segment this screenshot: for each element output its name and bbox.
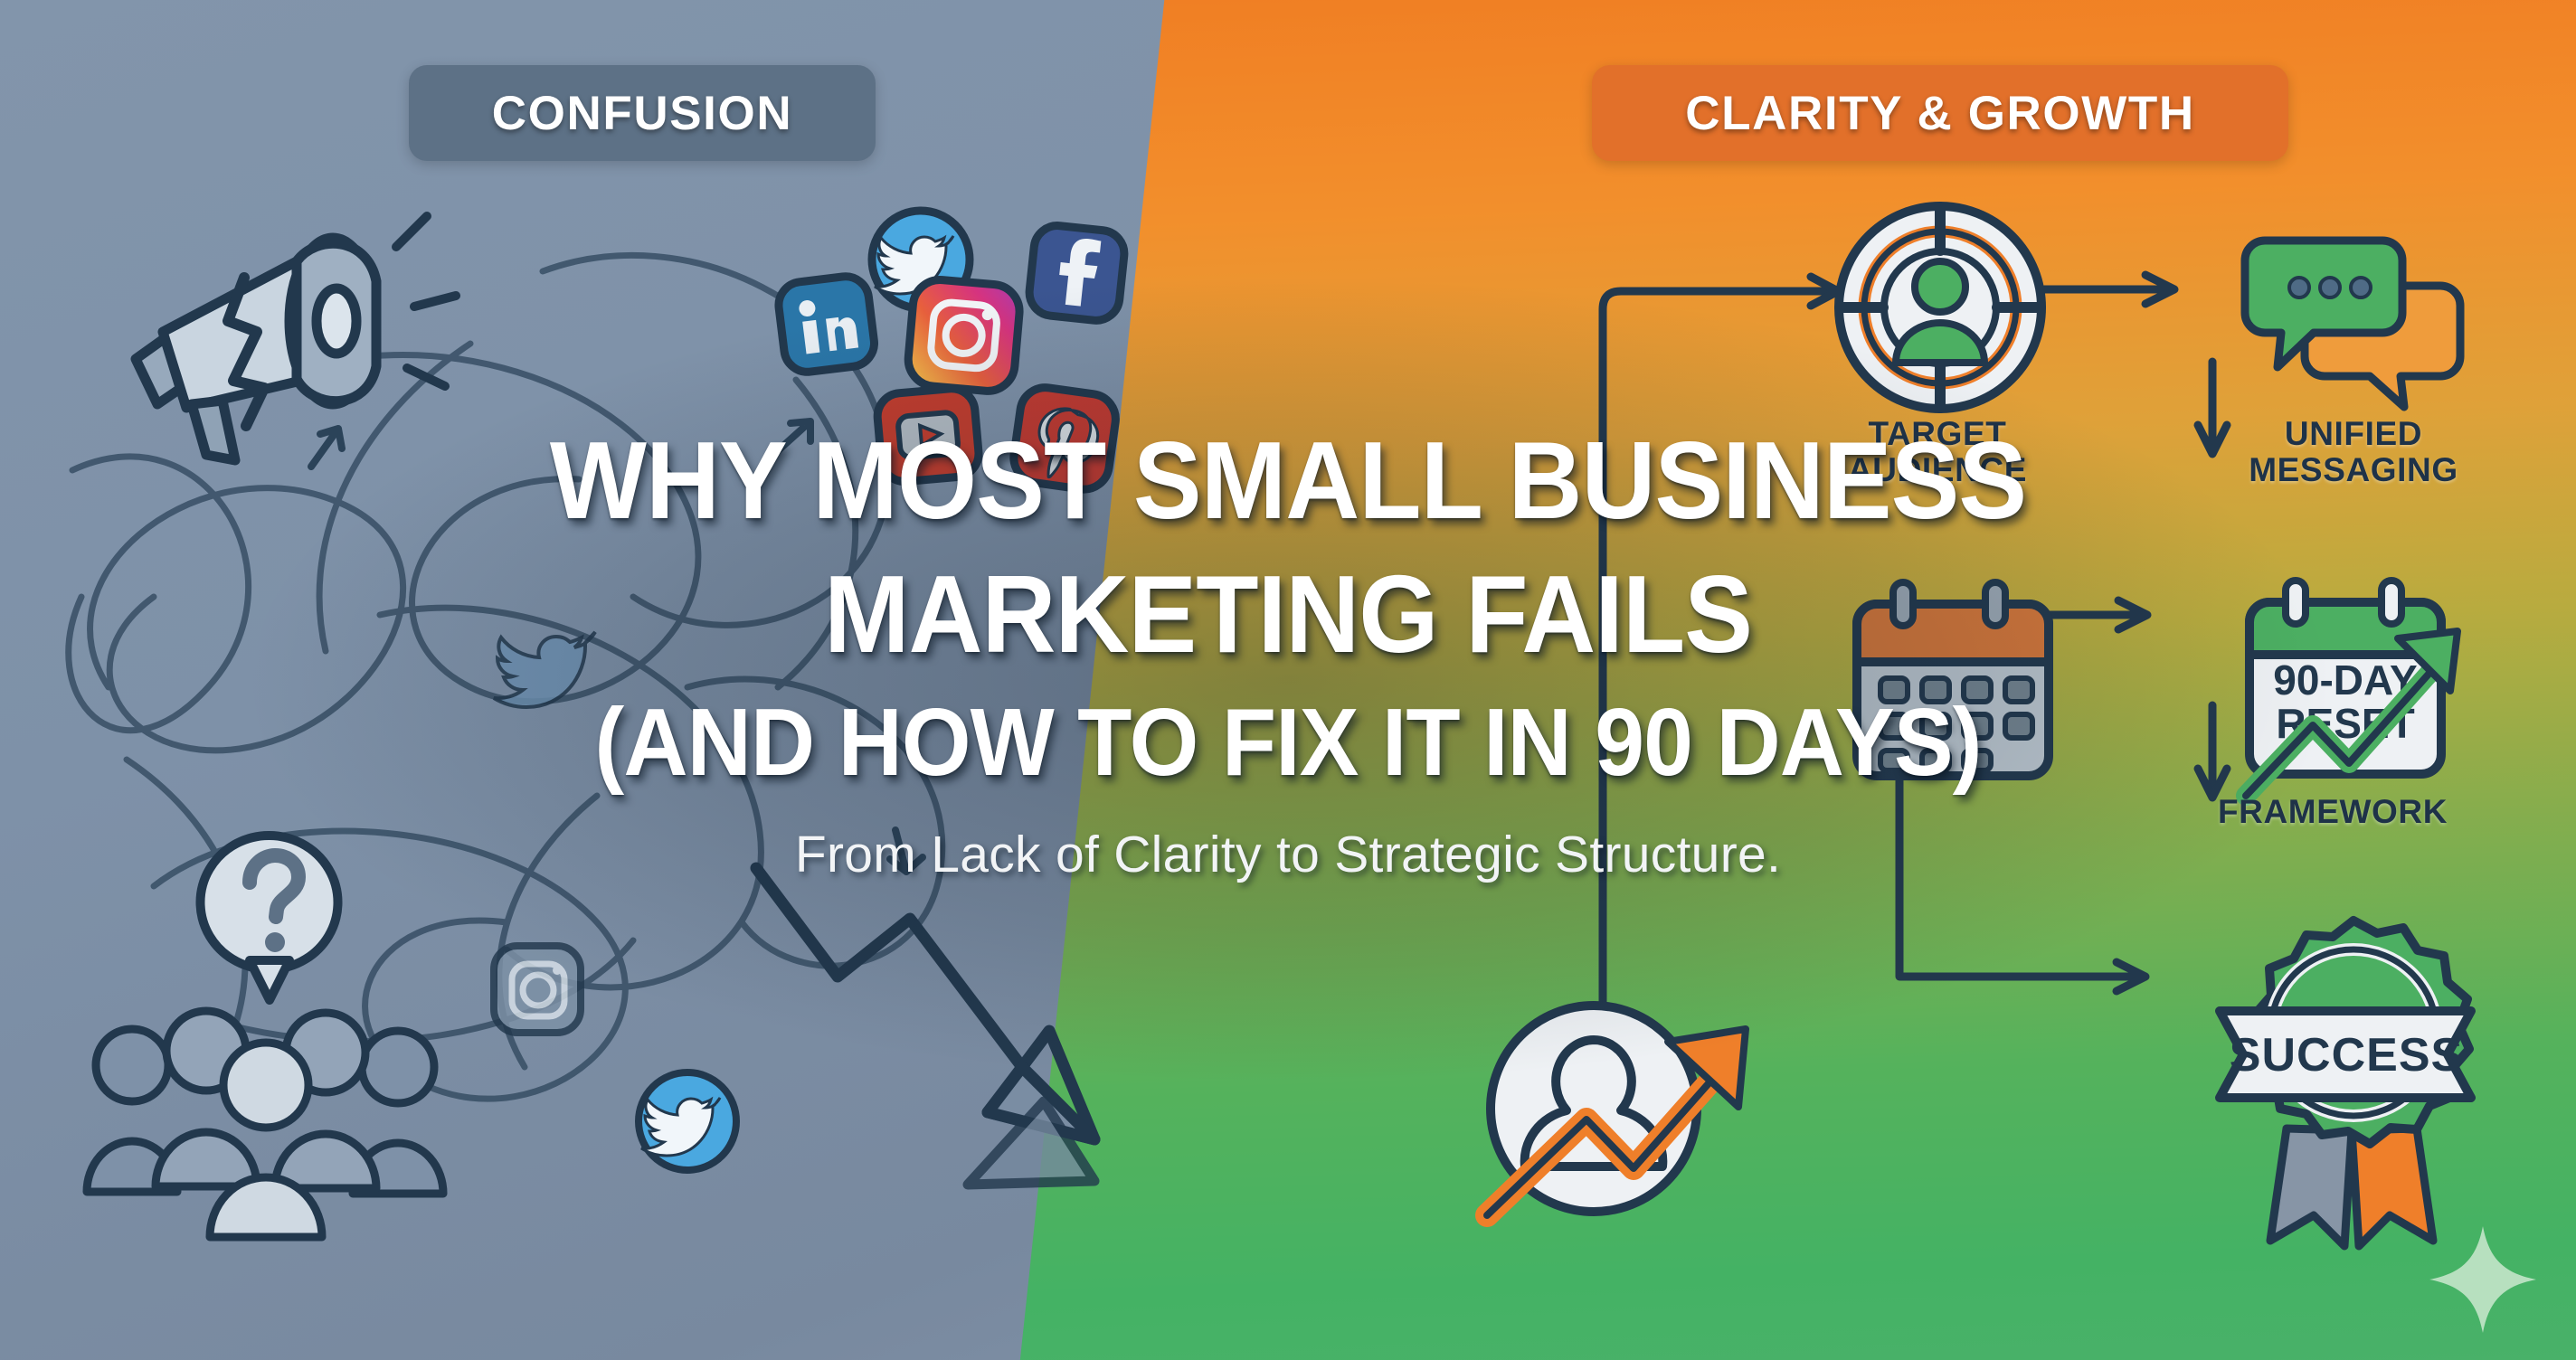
confusion-tag: CONFUSION [409,65,876,161]
clarity-growth-tag: CLARITY & GROWTH [1592,65,2288,161]
center-vignette [0,0,2576,1360]
infographic-banner: TARGET AUDIENCE UNIFIED MESSAGING [0,0,2576,1360]
